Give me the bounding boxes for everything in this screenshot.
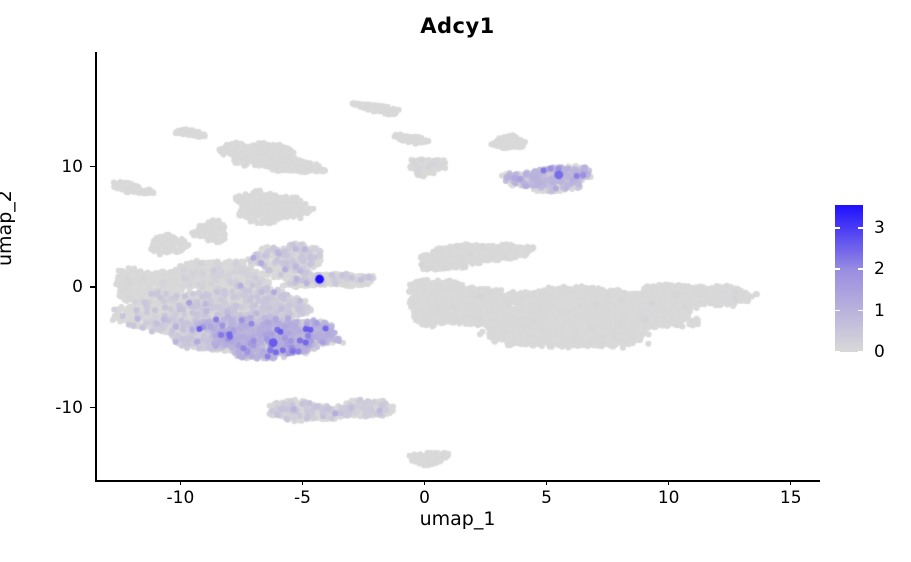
x-tick-mark bbox=[424, 480, 425, 485]
x-tick-label: 5 bbox=[541, 488, 552, 508]
colorbar-tick-mark bbox=[835, 268, 840, 270]
figure-canvas: Adcy1 -10-5051015 100-10 umap_1 umap_2 0… bbox=[0, 0, 911, 562]
colorbar-tick-mark bbox=[858, 351, 863, 353]
y-tick-label: 10 bbox=[25, 157, 83, 177]
axis-spine-left bbox=[95, 52, 97, 480]
x-tick-mark bbox=[546, 480, 547, 485]
x-tick-mark bbox=[302, 480, 303, 485]
x-tick-mark bbox=[180, 480, 181, 485]
colorbar-tick-mark bbox=[858, 227, 863, 229]
axis-spine-bottom bbox=[95, 480, 820, 482]
y-tick-mark bbox=[90, 166, 95, 167]
y-tick-mark bbox=[90, 286, 95, 287]
colorbar-tick-label: 0 bbox=[874, 342, 885, 362]
colorbar-tick-label: 3 bbox=[874, 218, 885, 238]
colorbar-tick-label: 1 bbox=[874, 301, 885, 321]
x-tick-label: 15 bbox=[780, 488, 802, 508]
x-tick-label: 0 bbox=[419, 488, 430, 508]
plot-axes: -10-5051015 100-10 bbox=[95, 52, 820, 480]
x-tick-label: -10 bbox=[167, 488, 195, 508]
y-tick-mark bbox=[90, 407, 95, 408]
x-tick-mark bbox=[668, 480, 669, 485]
colorbar-tick-mark bbox=[835, 310, 840, 312]
x-tick-label: 10 bbox=[658, 488, 680, 508]
x-tick-mark bbox=[790, 480, 791, 485]
colorbar-tick-label: 2 bbox=[874, 259, 885, 279]
colorbar-tick-mark bbox=[835, 351, 840, 353]
y-axis-label: umap_2 bbox=[0, 190, 16, 266]
colorbar-tick-mark bbox=[858, 268, 863, 270]
x-tick-label: -5 bbox=[294, 488, 311, 508]
y-tick-label: 0 bbox=[25, 277, 83, 297]
page-title: Adcy1 bbox=[95, 14, 820, 38]
y-tick-label: -10 bbox=[25, 398, 83, 418]
colorbar-tick-mark bbox=[858, 310, 863, 312]
colorbar-tick-mark bbox=[835, 227, 840, 229]
x-axis-label: umap_1 bbox=[95, 508, 820, 530]
umap-scatter-plot bbox=[95, 52, 820, 480]
